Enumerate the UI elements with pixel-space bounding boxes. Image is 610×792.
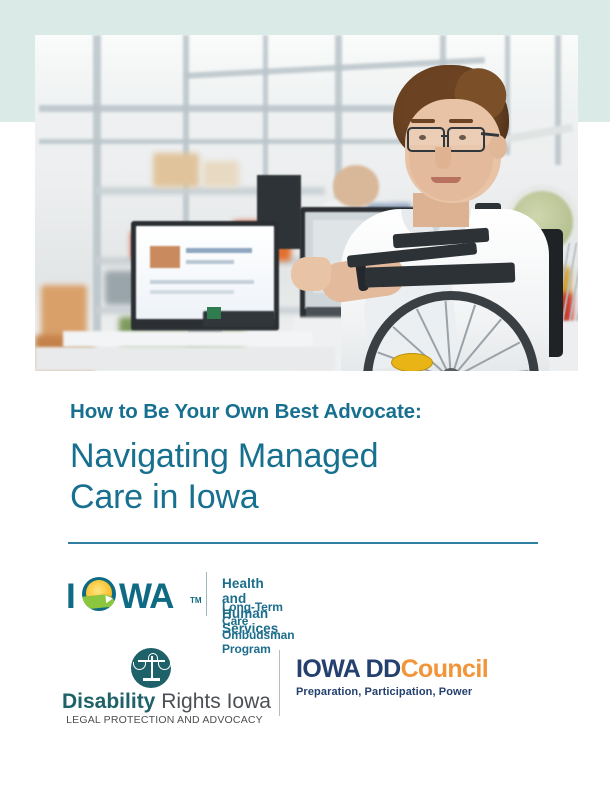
subject-ear xyxy=(489,135,507,159)
page-title: Navigating Managed Care in Iowa xyxy=(70,436,570,518)
trademark-mark: TM xyxy=(190,596,202,605)
photo-subject-man-in-wheelchair xyxy=(335,53,578,371)
shelf-box xyxy=(203,161,239,187)
scales-hook xyxy=(148,653,158,660)
dri-name-bold: Disability xyxy=(62,690,155,713)
ddc-title-navy: IOWA DD xyxy=(296,655,401,683)
page-title-line-2: Care in Iowa xyxy=(70,477,570,518)
screen-text-line xyxy=(150,290,234,294)
subject-nose xyxy=(435,147,451,169)
screen-text-line xyxy=(186,248,252,253)
green-swoosh-icon xyxy=(82,593,115,609)
shelf-post xyxy=(263,35,268,195)
iowa-wordmark-i: I xyxy=(66,578,75,616)
shelf-post xyxy=(93,35,101,335)
cover-kicker: How to Be Your Own Best Advocate: xyxy=(70,400,550,424)
ddc-title: IOWA DDCouncil xyxy=(296,655,511,683)
screen-text-line xyxy=(186,260,234,264)
dri-tagline: LEGAL PROTECTION AND ADVOCACY xyxy=(62,714,267,726)
scales-base xyxy=(143,678,160,681)
wheel-reflector xyxy=(391,353,433,371)
wheel-spoke xyxy=(445,301,452,371)
dri-name: Disability Rights Iowa xyxy=(62,690,267,714)
dri-name-regular: Rights Iowa xyxy=(155,690,271,713)
page-title-line-1: Navigating Managed xyxy=(70,436,570,477)
iowa-dd-council-logo: IOWA DDCouncil Preparation, Participatio… xyxy=(296,655,511,698)
monitor-screen xyxy=(136,226,274,319)
partner-logo-divider xyxy=(279,650,280,716)
logo-divider xyxy=(206,572,207,616)
title-divider-rule xyxy=(68,542,538,544)
subject-mouth xyxy=(431,177,461,183)
scales-pan-left xyxy=(133,662,146,670)
screen-text-line xyxy=(150,280,254,284)
ddc-tagline: Preparation, Participation, Power xyxy=(296,686,511,698)
cover-photo xyxy=(35,35,578,371)
shelf-box xyxy=(153,153,199,187)
subject-eyebrow xyxy=(449,119,473,123)
scales-pan-right xyxy=(158,662,171,670)
photo-scene xyxy=(35,35,578,371)
ddc-title-orange: Council xyxy=(401,655,488,683)
subject-eyebrow xyxy=(411,119,435,123)
workbench xyxy=(35,347,335,371)
scales-of-justice-icon xyxy=(131,648,171,688)
desk-object xyxy=(207,307,221,319)
eyeglasses-bridge xyxy=(441,135,449,137)
iowa-sunrise-icon xyxy=(82,577,116,611)
iowa-wordmark-wa: WA xyxy=(119,578,173,616)
hhs-program-name: Long-Term Care Ombudsman Program xyxy=(222,600,294,656)
workbench xyxy=(63,331,313,347)
eyeglasses-icon xyxy=(447,127,485,152)
subject-hand xyxy=(291,257,331,291)
screen-image-block xyxy=(150,246,180,268)
